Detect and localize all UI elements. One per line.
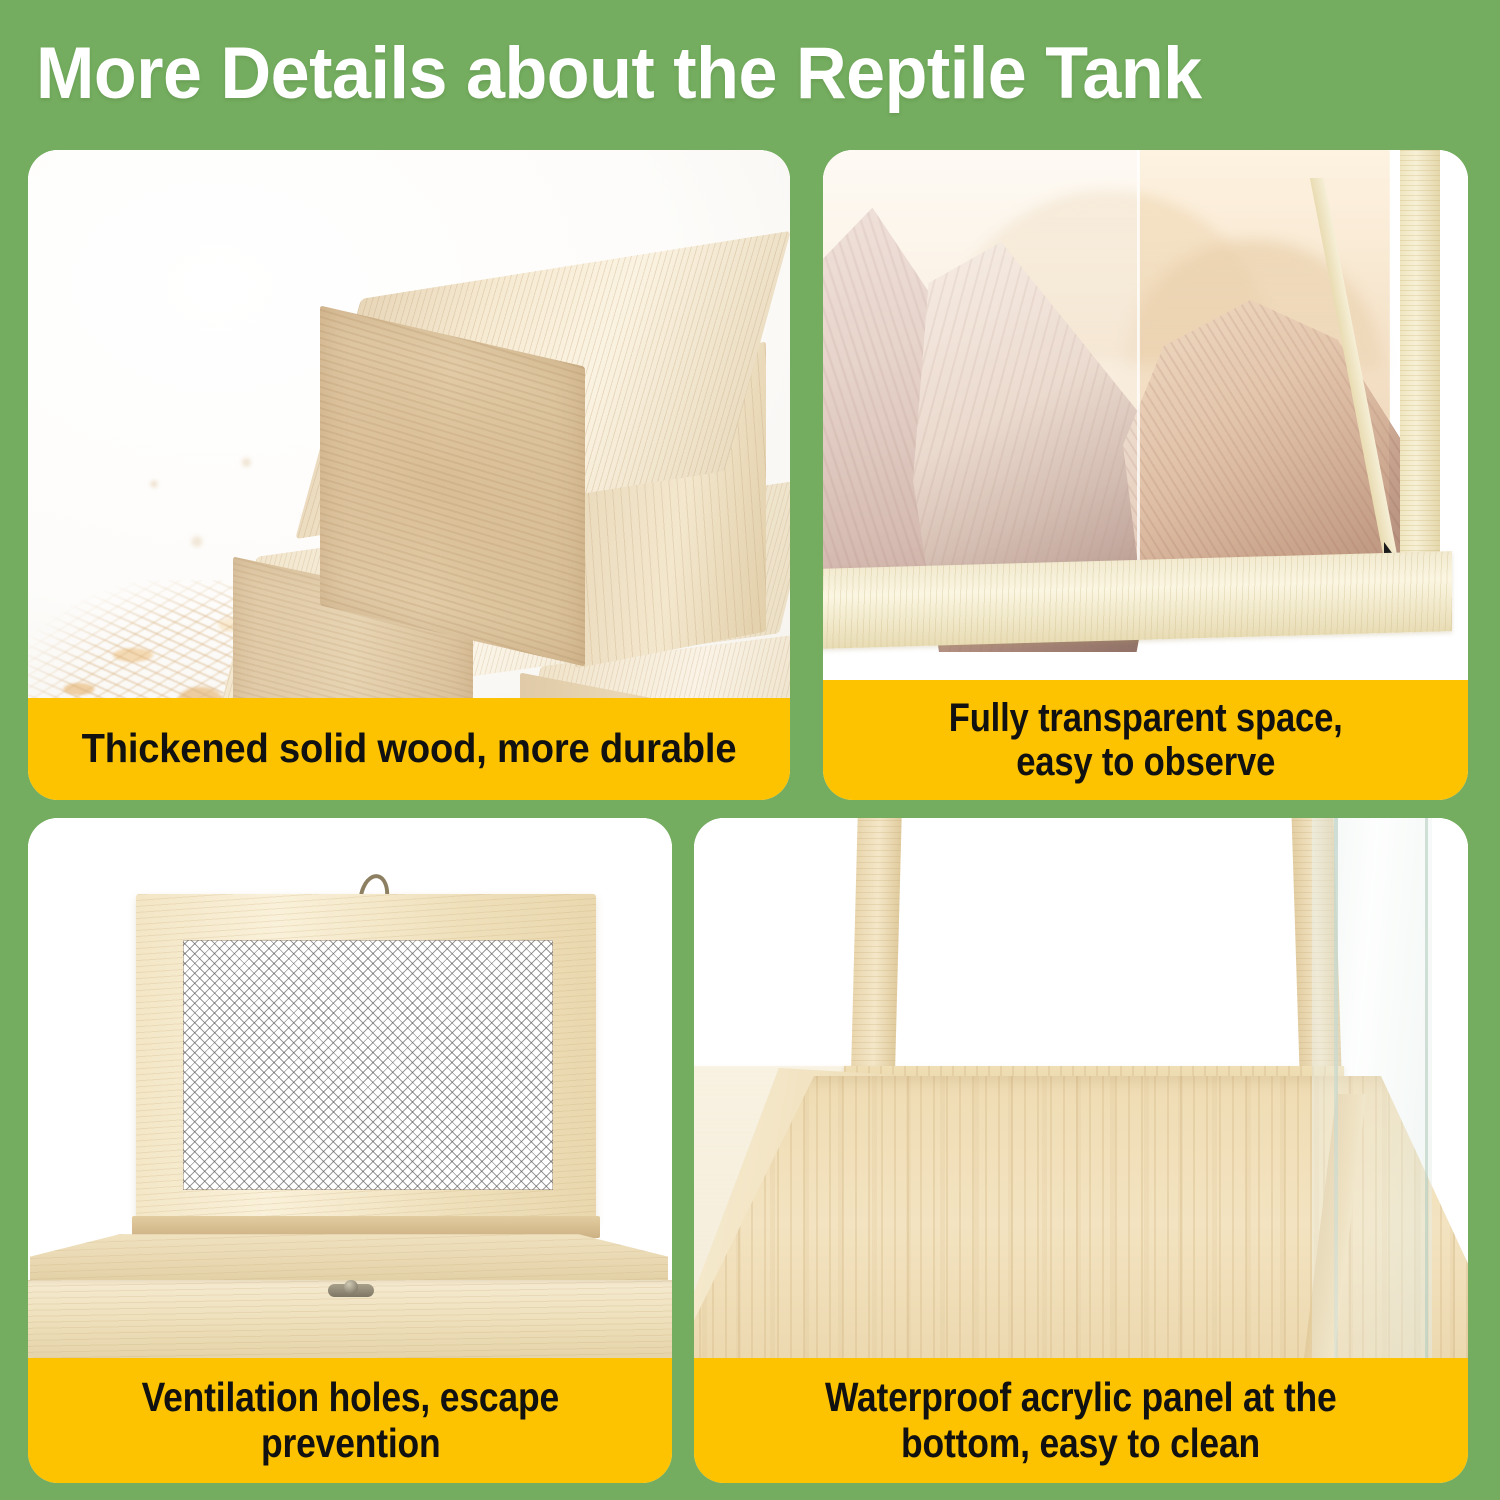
transparent-panel-scene (823, 150, 1468, 680)
panel-waterproof-acrylic-panel: Waterproof acrylic panel at the bottom, … (694, 818, 1468, 1483)
caption-waterproof-acrylic-panel: Waterproof acrylic panel at the bottom, … (694, 1358, 1468, 1483)
tank-back-opening (898, 818, 1296, 1070)
caption-line-2: prevention (260, 1421, 440, 1466)
panel-fully-transparent-space: Fully transparent space, easy to observe (823, 150, 1468, 800)
caption-line-1: Waterproof acrylic panel at the (825, 1375, 1337, 1420)
caption-line-1: Thickened solid wood, more durable (82, 726, 737, 771)
caption-line-1: Ventilation holes, escape (141, 1375, 558, 1420)
caption-line-2: bottom, easy to clean (902, 1421, 1261, 1466)
caption-line-2: easy to observe (1016, 740, 1275, 784)
tank-interior-scene (694, 818, 1468, 1358)
wood-frame-bottom-rail (823, 551, 1452, 649)
photo-transparent-acrylic-panel (823, 150, 1468, 680)
acrylic-sheet-left-half (823, 150, 1139, 584)
wood-blocks-scene (28, 150, 790, 698)
panel-ventilation-holes: Ventilation holes, escape prevention (28, 818, 672, 1483)
acrylic-side-panel (1312, 818, 1432, 1358)
lid-hinge-pin (344, 1280, 358, 1294)
wire-mesh-screen (183, 940, 553, 1190)
acrylic-sheet-seam (1137, 150, 1140, 584)
wood-block-top-end-grain (320, 305, 585, 666)
reptile-tank-infographic: More Details about the Reptile Tank Thic… (0, 0, 1500, 1500)
wood-frame-right-rail (1400, 150, 1440, 600)
caption-ventilation-holes: Ventilation holes, escape prevention (28, 1358, 672, 1483)
photo-tank-bottom-interior (694, 818, 1468, 1358)
ventilation-lid-scene (28, 818, 672, 1358)
caption-fully-transparent-space: Fully transparent space, easy to observe (823, 680, 1468, 800)
page-title: More Details about the Reptile Tank (36, 24, 1409, 124)
frame-post-left (850, 818, 902, 1108)
caption-line-1: Fully transparent space, (949, 696, 1343, 740)
photo-solid-wood-blocks (28, 150, 790, 698)
acrylic-side-panel-outer-edge (1425, 818, 1428, 1358)
panel-thickened-solid-wood: Thickened solid wood, more durable (28, 150, 790, 800)
photo-ventilation-mesh-lid (28, 818, 672, 1358)
caption-thickened-solid-wood: Thickened solid wood, more durable (28, 698, 790, 800)
